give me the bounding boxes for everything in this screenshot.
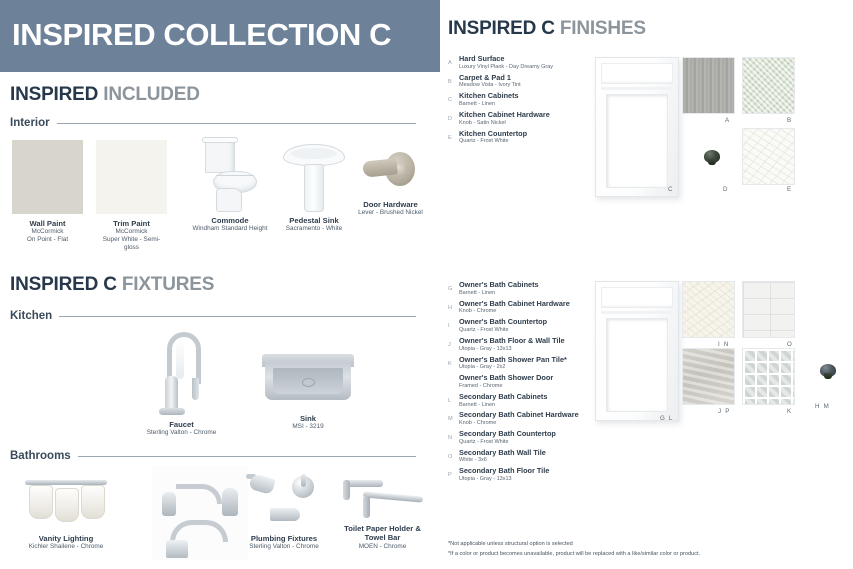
footnote-2: *If a color or product becomes unavailab…	[448, 550, 700, 560]
paint-swatch-icon	[12, 140, 83, 214]
swatch-label-e: E	[787, 186, 792, 193]
swatch-label-hm: H M	[815, 403, 830, 410]
item-name: Vanity Lighting	[16, 534, 116, 543]
swatch-label-gl: G L	[660, 415, 674, 422]
finish-name: Kitchen Countertop	[459, 130, 598, 139]
finish-desc: Utopia - Gray - 13x13	[459, 476, 598, 483]
item-name: Pedestal Sink	[267, 216, 361, 225]
finish-letter: C	[448, 92, 459, 108]
kitchen-countertop-swatch	[742, 128, 795, 185]
finish-desc: Meadow Vista - Ivory Tint	[459, 82, 598, 89]
finish-name: Carpet & Pad 1	[459, 74, 598, 83]
divider-rule	[59, 316, 416, 317]
finish-row: M Secondary Bath Cabinet Hardware Knob -…	[448, 411, 598, 427]
finish-desc: Quartz - Frost White	[459, 439, 598, 446]
finish-desc: White - 3x6	[459, 457, 598, 464]
finish-letter: D	[448, 111, 459, 127]
swatch-label-o: O	[787, 341, 793, 348]
finish-row: D Kitchen Cabinet Hardware Knob - Satin …	[448, 111, 598, 127]
finish-row: O Secondary Bath Wall Tile White - 3x6	[448, 449, 598, 465]
footnotes: *Not applicable unless structural option…	[448, 540, 700, 559]
finish-desc: Knob - Satin Nickel	[459, 120, 598, 127]
finish-desc: Utopia - Gray - 2x2	[459, 364, 598, 371]
finish-name: Secondary Bath Cabinets	[459, 393, 598, 402]
item-name: Sink	[262, 414, 354, 423]
finish-row: J Owner's Bath Floor & Wall Tile Utopia …	[448, 337, 598, 353]
finishes-heading-bold: INSPIRED C	[448, 18, 555, 39]
plumbing-fixtures-icon	[244, 472, 324, 532]
collection-banner: INSPIRED COLLECTION C	[0, 0, 440, 72]
finish-desc: Barnett - Linen	[459, 290, 598, 297]
bathroom-item-vanity-lighting: Vanity Lighting Kichler Shailene - Chrom…	[16, 472, 116, 551]
interior-subhead: Interior	[10, 117, 416, 129]
finish-row: L Secondary Bath Cabinets Barnett - Line…	[448, 393, 598, 409]
finish-desc: Utopia - Gray - 13x13	[459, 346, 598, 353]
divider-rule	[57, 123, 416, 124]
kitchen-sink-icon	[262, 348, 354, 410]
finishes-list-baths: G Owner's Bath Cabinets Barnett - Linen …	[448, 281, 598, 486]
finish-row: C Kitchen Cabinets Barnett - Linen	[448, 92, 598, 108]
hard-surface-swatch	[682, 57, 735, 114]
bath-countertop-swatch	[682, 281, 735, 338]
finish-row: K Owner's Bath Shower Pan Tile* Utopia -…	[448, 356, 598, 372]
left-column: INSPIRED COLLECTION C INSPIRED INCLUDED …	[0, 0, 440, 569]
right-column: INSPIRED C FINISHES A Hard Surface Luxur…	[440, 0, 853, 569]
lavatory-faucets-icon	[152, 466, 248, 560]
bath-cabinet-door-swatch	[595, 281, 679, 421]
item-name: Plumbing Fixtures	[238, 534, 330, 543]
carpet-swatch	[742, 57, 795, 114]
finish-row: A Hard Surface Luxury Vinyl Plank - Day …	[448, 55, 598, 71]
finish-letter: K	[448, 356, 459, 372]
kitchen-faucet-icon	[155, 330, 209, 416]
finish-name: Secondary Bath Cabinet Hardware	[459, 411, 598, 420]
finish-letter: H	[448, 300, 459, 316]
swatch-label-k: K	[787, 408, 792, 415]
interior-item-commode: Commode Windham Standard Height	[180, 140, 280, 233]
finishes-heading: INSPIRED C FINISHES	[448, 18, 646, 40]
item-name: Faucet	[124, 420, 239, 429]
wall-tile-swatch	[742, 281, 795, 338]
finish-row: G Owner's Bath Cabinets Barnett - Linen	[448, 281, 598, 297]
item-desc-1: MSI - 3219	[262, 423, 354, 431]
finish-row: I Owner's Bath Countertop Quartz - Frost…	[448, 318, 598, 334]
finish-letter: A	[448, 55, 459, 71]
floor-tile-swatch	[682, 348, 735, 405]
finish-row: B Carpet & Pad 1 Meadow Vista - Ivory Ti…	[448, 74, 598, 90]
item-desc-1: MOEN - Chrome	[330, 543, 435, 551]
finish-letter: J	[448, 337, 459, 353]
item-desc-1: Sacramento - White	[267, 225, 361, 233]
finish-desc: Knob - Chrome	[459, 420, 598, 427]
item-desc-1: Lever - Brushed Nickel	[341, 209, 440, 217]
item-desc-1: McCormick	[96, 228, 167, 236]
spec-sheet-page: INSPIRED COLLECTION C INSPIRED INCLUDED …	[0, 0, 853, 569]
finishes-heading-light: FINISHES	[560, 18, 646, 39]
finish-letter: G	[448, 281, 459, 297]
finish-desc: Framed - Chrome	[459, 383, 598, 390]
finish-row: P Secondary Bath Floor Tile Utopia - Gra…	[448, 467, 598, 483]
finish-letter: P	[448, 467, 459, 483]
finish-desc: Barnett - Linen	[459, 402, 598, 409]
finish-letter: I	[448, 318, 459, 334]
vanity-light-icon	[19, 472, 113, 532]
interior-label: Interior	[10, 117, 57, 129]
finish-row: E Kitchen Countertop Quartz - Frost Whit…	[448, 130, 598, 146]
item-desc-1: Windham Standard Height	[180, 225, 280, 233]
finish-letter: M	[448, 411, 459, 427]
finish-name: Owner's Bath Shower Pan Tile*	[459, 356, 598, 365]
bathroom-item-lavatory-faucets	[152, 466, 248, 560]
swatch-label-in: I N	[718, 341, 730, 348]
finish-name: Owner's Bath Countertop	[459, 318, 598, 327]
toilet-paper-holder-icon	[339, 472, 427, 524]
finish-row: N Secondary Bath Countertop Quartz - Fro…	[448, 430, 598, 446]
page-title: INSPIRED COLLECTION C	[12, 17, 391, 53]
finish-row: H Owner's Bath Cabinet Hardware Knob - C…	[448, 300, 598, 316]
finish-name: Owner's Bath Floor & Wall Tile	[459, 337, 598, 346]
kitchen-item-sink: Sink MSI - 3219	[262, 348, 354, 431]
bathrooms-subhead: Bathrooms	[10, 450, 416, 462]
kitchen-item-faucet: Faucet Sterling Valton - Chrome	[124, 330, 239, 437]
finish-name: Kitchen Cabinet Hardware	[459, 111, 598, 120]
finish-desc: Barnett - Linen	[459, 101, 598, 108]
interior-item-door-hardware: Door Hardware Lever - Brushed Nickel	[341, 146, 440, 217]
bathroom-item-toilet-paper-holder: Toilet Paper Holder & Towel Bar MOEN - C…	[330, 472, 435, 551]
finish-name: Kitchen Cabinets	[459, 92, 598, 101]
included-heading: INSPIRED INCLUDED	[10, 84, 200, 106]
finish-letter: N	[448, 430, 459, 446]
item-desc-1: Sterling Valton - Chrome	[124, 429, 239, 437]
interior-item-wall-paint: Wall Paint McCormick On Point - Flat	[12, 140, 83, 244]
swatch-label-jp: J P	[718, 408, 731, 415]
fixtures-heading: INSPIRED C FIXTURES	[10, 274, 214, 296]
finish-letter	[448, 374, 459, 390]
swatch-label-a: A	[725, 117, 730, 124]
swatch-label-b: B	[787, 117, 792, 124]
door-lever-icon	[363, 146, 419, 196]
item-name: Trim Paint	[96, 219, 167, 228]
item-name: Commode	[180, 216, 280, 225]
item-name-line2: Towel Bar	[330, 533, 435, 542]
finish-letter: O	[448, 449, 459, 465]
kitchen-knob-swatch	[704, 150, 720, 163]
item-desc-1: McCormick	[12, 228, 83, 236]
finish-name: Secondary Bath Wall Tile	[459, 449, 598, 458]
item-desc-2: Super White - Semi-gloss	[96, 236, 167, 252]
finish-letter: E	[448, 130, 459, 146]
item-name: Door Hardware	[341, 200, 440, 209]
bathroom-item-plumbing-fixtures: Plumbing Fixtures Sterling Valton - Chro…	[238, 472, 330, 551]
item-name: Wall Paint	[12, 219, 83, 228]
kitchen-subhead: Kitchen	[10, 310, 416, 322]
kitchen-label: Kitchen	[10, 310, 59, 322]
footnote-1: *Not applicable unless structural option…	[448, 540, 700, 550]
finish-desc: Knob - Chrome	[459, 308, 598, 315]
item-desc-2: On Point - Flat	[12, 236, 83, 244]
finish-name: Secondary Bath Countertop	[459, 430, 598, 439]
bathrooms-label: Bathrooms	[10, 450, 78, 462]
pedestal-sink-icon	[283, 140, 345, 212]
finish-letter: L	[448, 393, 459, 409]
finish-name: Secondary Bath Floor Tile	[459, 467, 598, 476]
fixtures-heading-bold: INSPIRED C	[10, 274, 117, 295]
commode-icon	[199, 140, 261, 212]
included-heading-light: INCLUDED	[103, 84, 200, 105]
included-heading-bold: INSPIRED	[10, 84, 98, 105]
item-desc-1: Kichler Shailene - Chrome	[16, 543, 116, 551]
interior-item-trim-paint: Trim Paint McCormick Super White - Semi-…	[96, 140, 167, 252]
finish-name: Owner's Bath Cabinets	[459, 281, 598, 290]
fixtures-heading-light: FIXTURES	[122, 274, 214, 295]
finish-name: Owner's Bath Shower Door	[459, 374, 598, 383]
finish-desc: Quartz - Frost White	[459, 138, 598, 145]
swatch-label-c: C	[668, 186, 674, 193]
divider-rule	[78, 456, 416, 457]
finish-name: Hard Surface	[459, 55, 598, 64]
swatch-label-d: D	[723, 186, 729, 193]
paint-swatch-icon	[96, 140, 167, 214]
bath-knob-swatch	[820, 364, 836, 377]
kitchen-cabinet-door-swatch	[595, 57, 679, 197]
item-desc-1: Sterling Valton - Chrome	[238, 543, 330, 551]
finish-row: Owner's Bath Shower Door Framed - Chrome	[448, 374, 598, 390]
item-name: Toilet Paper Holder &	[330, 524, 435, 533]
finish-name: Owner's Bath Cabinet Hardware	[459, 300, 598, 309]
finishes-list-kitchen: A Hard Surface Luxury Vinyl Plank - Day …	[448, 55, 598, 148]
finish-letter: B	[448, 74, 459, 90]
finish-desc: Luxury Vinyl Plank - Day Dreamy Gray	[459, 64, 598, 71]
shower-pan-tile-swatch	[742, 348, 795, 405]
finish-desc: Quartz - Frost White	[459, 327, 598, 334]
